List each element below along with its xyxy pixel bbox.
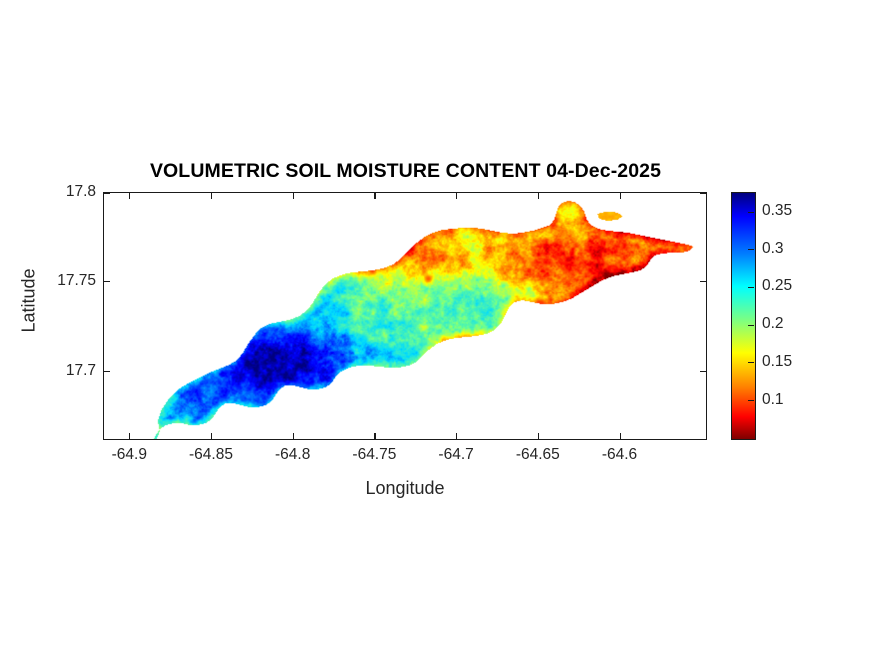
xtick-bottom-4 <box>374 433 375 440</box>
map-axes[interactable] <box>103 192 707 440</box>
xtick-bottom-6 <box>538 433 539 440</box>
xtick-bottom-5 <box>456 433 457 440</box>
ytick-left-3 <box>103 371 110 372</box>
colorbar-label-6: 0.1 <box>762 391 784 409</box>
xticklabel-4: -64.75 <box>334 446 414 464</box>
colorbar-tick-5 <box>748 362 754 363</box>
colorbar-label-5: 0.15 <box>762 353 792 371</box>
ytick-left-1 <box>103 193 110 194</box>
xtick-top-7 <box>620 192 621 199</box>
yticklabel-3: 17.7 <box>26 362 96 380</box>
colorbar-tick-6 <box>748 400 754 401</box>
xticklabel-5: -64.7 <box>416 446 496 464</box>
colorbar-tick-2 <box>748 249 754 250</box>
ytick-left-2 <box>103 281 110 282</box>
xtick-top-4 <box>374 192 375 199</box>
xtick-top-1 <box>129 192 130 199</box>
colorbar[interactable] <box>731 192 756 440</box>
colorbar-label-4: 0.2 <box>762 315 784 333</box>
matlab-figure: VOLUMETRIC SOIL MOISTURE CONTENT 04-Dec-… <box>0 0 875 656</box>
x-axis-label: Longitude <box>103 478 707 499</box>
y-axis-label: Latitude <box>19 246 40 356</box>
xticklabel-6: -64.65 <box>498 446 578 464</box>
xticklabel-1: -64.9 <box>89 446 169 464</box>
xtick-top-5 <box>456 192 457 199</box>
colorbar-tick-1 <box>748 212 754 213</box>
ytick-right-2 <box>700 281 707 282</box>
xticklabel-2: -64.85 <box>171 446 251 464</box>
page-title: VOLUMETRIC SOIL MOISTURE CONTENT 04-Dec-… <box>103 160 708 183</box>
xticklabel-7: -64.6 <box>580 446 660 464</box>
xtick-top-2 <box>211 192 212 199</box>
colorbar-label-1: 0.35 <box>762 202 792 220</box>
xtick-bottom-2 <box>211 433 212 440</box>
ytick-right-1 <box>700 193 707 194</box>
colorbar-tick-4 <box>748 325 754 326</box>
xtick-bottom-1 <box>129 433 130 440</box>
yticklabel-1: 17.8 <box>26 183 96 201</box>
xtick-bottom-3 <box>293 433 294 440</box>
colorbar-label-2: 0.3 <box>762 240 784 258</box>
xticklabel-3: -64.8 <box>253 446 333 464</box>
soil-moisture-heatmap <box>104 193 706 439</box>
xtick-bottom-7 <box>620 433 621 440</box>
ytick-right-3 <box>700 371 707 372</box>
colorbar-tick-3 <box>748 287 754 288</box>
xtick-top-6 <box>538 192 539 199</box>
colorbar-label-3: 0.25 <box>762 277 792 295</box>
xtick-top-3 <box>293 192 294 199</box>
